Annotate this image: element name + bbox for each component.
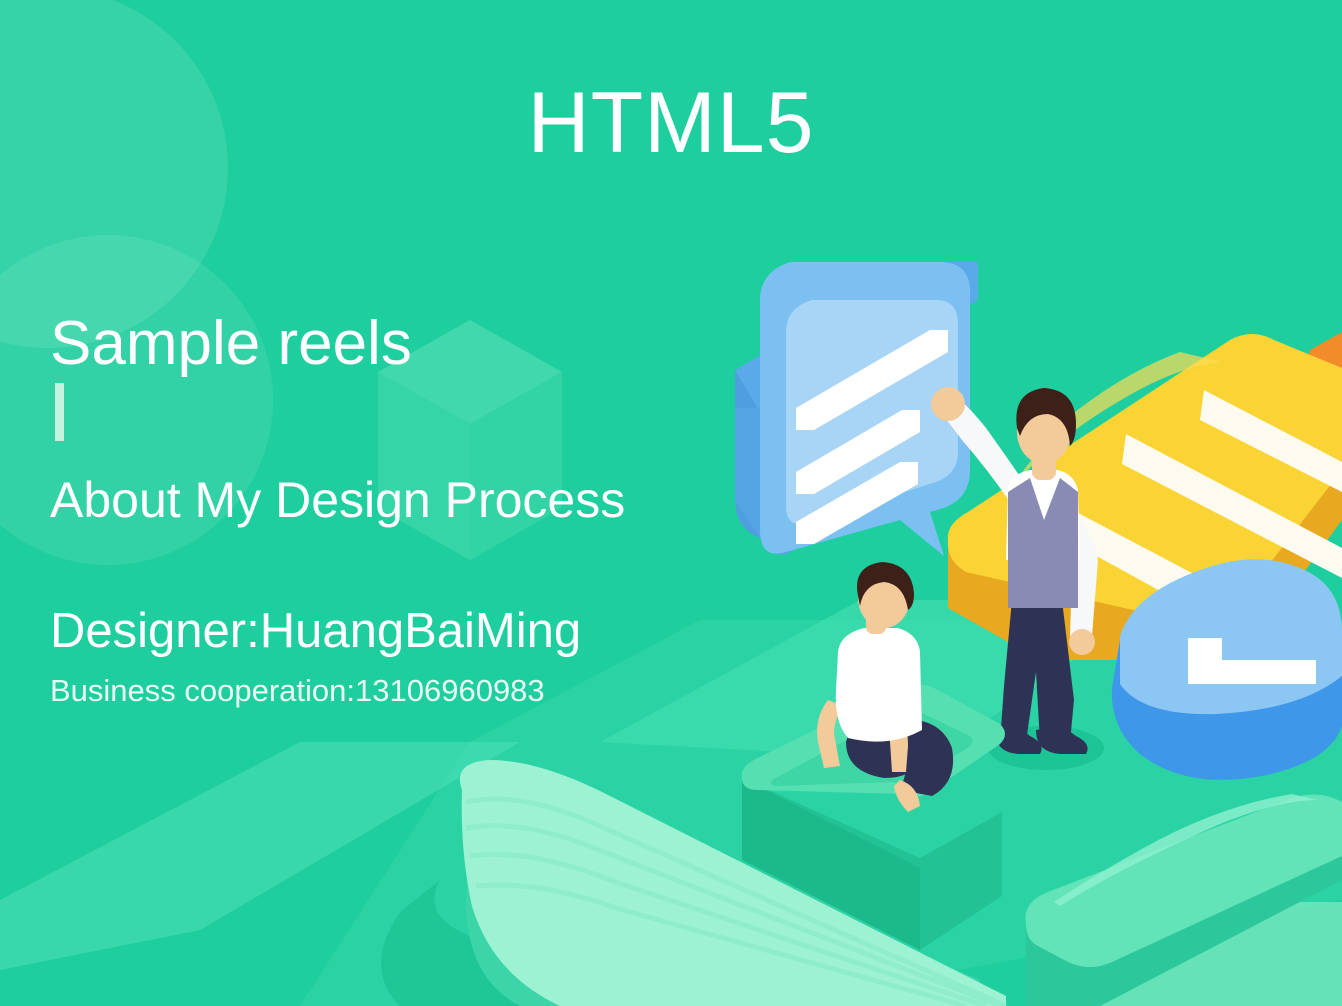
page-title: HTML5 (0, 78, 1342, 168)
presentation-slide: HTML5 Sample reels About My Design Proce… (0, 0, 1342, 1006)
intro-text-block: Sample reels About My Design Process Des… (50, 312, 810, 706)
designer-credit: Designer:HuangBaiMing (50, 607, 810, 656)
headline: Sample reels (50, 312, 810, 375)
seated-person-shirt (836, 628, 922, 742)
business-contact: Business cooperation:13106960983 (50, 675, 810, 706)
text-cursor-caret (55, 383, 64, 441)
subheadline: About My Design Process (50, 475, 810, 525)
